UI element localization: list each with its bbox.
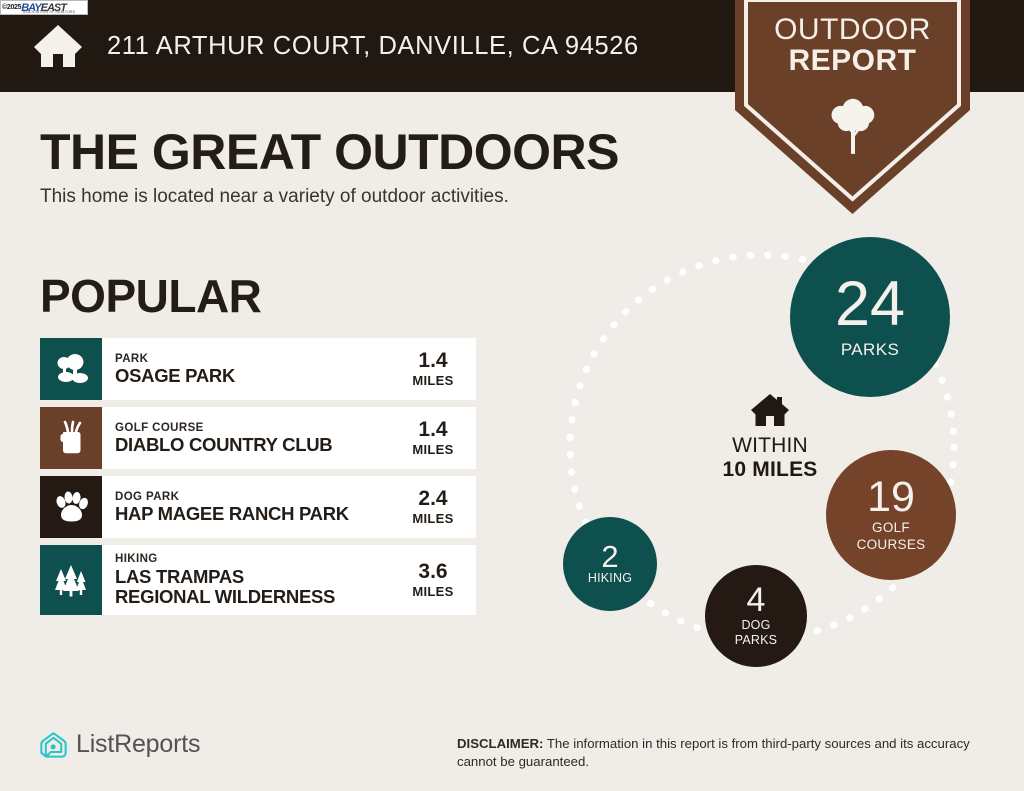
property-address: 211 ARTHUR COURT, DANVILLE, CA 94526 <box>107 32 639 61</box>
park-trees-icon <box>53 353 89 385</box>
distance-value: 2.4 <box>418 488 447 510</box>
bubble-parks[interactable]: 24 PARKS <box>790 237 950 397</box>
list-item-text: PARK OSAGE PARK <box>102 338 398 400</box>
distance-value: 3.6 <box>418 561 447 583</box>
distance-unit: MILES <box>412 584 453 599</box>
bubble-label-line2: PARKS <box>735 634 777 648</box>
badge-shield-shape <box>735 0 970 214</box>
popular-list: PARK OSAGE PARK 1.4 MILES <box>40 338 476 622</box>
list-item-distance: 1.4 MILES <box>398 407 476 469</box>
center-label-line2: 10 MILES <box>690 458 850 482</box>
bubble-label: HIKING <box>588 572 632 586</box>
bubble-label: PARKS <box>841 341 899 359</box>
page-title: THE GREAT OUTDOORS <box>40 123 619 181</box>
distance-unit: MILES <box>412 442 453 457</box>
amenities-bubble-chart: 24 PARKS 19 GOLF COURSES 4 DOG PARKS 2 H… <box>540 225 1010 685</box>
disclaimer-label: DISCLAIMER: <box>457 736 543 751</box>
chart-center-label: WITHIN 10 MILES <box>690 393 850 481</box>
bubble-value: 4 <box>747 584 766 616</box>
list-item-name: HAP MAGEE RANCH PARK <box>115 504 398 524</box>
list-item-icon-tile <box>40 476 102 538</box>
watermark-copyright: ©2025 <box>1 4 21 11</box>
list-item-category: PARK <box>115 352 398 366</box>
list-item-name: DIABLO COUNTRY CLUB <box>115 435 398 455</box>
bubble-dog-parks[interactable]: 4 DOG PARKS <box>705 565 807 667</box>
bubble-label-line1: GOLF <box>872 521 910 536</box>
list-item-category: HIKING <box>115 552 398 566</box>
home-icon <box>750 393 790 427</box>
bubble-label-line2: COURSES <box>857 538 926 553</box>
list-item-distance: 2.4 MILES <box>398 476 476 538</box>
distance-value: 1.4 <box>418 350 447 372</box>
list-item-text: DOG PARK HAP MAGEE RANCH PARK <box>102 476 398 538</box>
list-item[interactable]: PARK OSAGE PARK 1.4 MILES <box>40 338 476 400</box>
popular-heading: POPULAR <box>40 269 261 323</box>
list-item-icon-tile <box>40 545 102 615</box>
bubble-label-line1: DOG <box>741 619 770 633</box>
list-item-text: HIKING LAS TRAMPAS REGIONAL WILDERNESS <box>102 545 398 615</box>
list-item[interactable]: DOG PARK HAP MAGEE RANCH PARK 2.4 MILES <box>40 476 476 538</box>
paw-print-icon <box>54 491 88 524</box>
mls-watermark: ©2025 BAY EAST ASSOCIATION OF REALTORS <box>0 0 88 15</box>
golf-bag-icon <box>56 420 86 456</box>
outdoor-report-badge: OUTDOOR REPORT <box>735 0 970 214</box>
outdoor-report-page: ©2025 BAY EAST ASSOCIATION OF REALTORS 2… <box>0 0 1024 791</box>
distance-unit: MILES <box>412 373 453 388</box>
bubble-value: 2 <box>601 542 618 571</box>
list-item-name: LAS TRAMPAS REGIONAL WILDERNESS <box>115 567 340 608</box>
disclaimer: DISCLAIMER: The information in this repo… <box>457 735 992 771</box>
home-icon <box>33 23 83 69</box>
bubble-hiking[interactable]: 2 HIKING <box>563 517 657 611</box>
list-item-icon-tile <box>40 338 102 400</box>
center-label-line1: WITHIN <box>690 434 850 458</box>
list-item-distance: 3.6 MILES <box>398 545 476 615</box>
list-item-category: GOLF COURSE <box>115 421 398 435</box>
list-item-name: OSAGE PARK <box>115 366 398 386</box>
list-item-distance: 1.4 MILES <box>398 338 476 400</box>
distance-unit: MILES <box>412 511 453 526</box>
distance-value: 1.4 <box>418 419 447 441</box>
watermark-subtitle: ASSOCIATION OF REALTORS <box>23 10 75 14</box>
list-item-text: GOLF COURSE DIABLO COUNTRY CLUB <box>102 407 398 469</box>
listreports-wordmark: ListReports <box>76 730 200 759</box>
list-item[interactable]: GOLF COURSE DIABLO COUNTRY CLUB 1.4 MILE… <box>40 407 476 469</box>
list-item[interactable]: HIKING LAS TRAMPAS REGIONAL WILDERNESS 3… <box>40 545 476 615</box>
page-subtitle: This home is located near a variety of o… <box>40 186 509 208</box>
pine-trees-icon <box>53 563 89 597</box>
bubble-value: 19 <box>867 477 915 518</box>
bubble-value: 24 <box>835 275 905 335</box>
listreports-logo[interactable]: ListReports <box>40 730 200 759</box>
list-item-icon-tile <box>40 407 102 469</box>
list-item-category: DOG PARK <box>115 490 398 504</box>
listreports-house-icon <box>40 731 67 759</box>
